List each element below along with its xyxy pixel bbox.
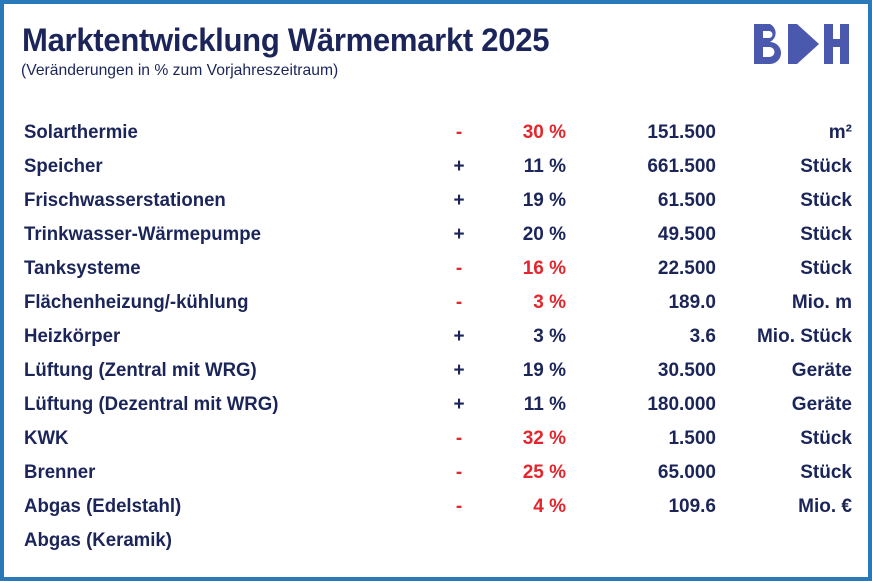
table-row: Frischwasserstationen + 19 % 61.500 Stüc… (4, 184, 868, 218)
row-label: Abgas (Edelstahl) (24, 490, 181, 524)
row-value: 151.500 (574, 116, 716, 150)
row-label: Tanksysteme (24, 252, 141, 286)
row-unit: Stück (716, 252, 852, 286)
row-unit: Stück (716, 422, 852, 456)
row-sign: - (444, 456, 474, 490)
row-unit: Mio. € (716, 490, 852, 524)
row-unit: Stück (716, 150, 852, 184)
row-unit: Stück (716, 456, 852, 490)
row-sign: - (444, 252, 474, 286)
row-label: Frischwasserstationen (24, 184, 226, 218)
row-sign: + (444, 184, 474, 218)
row-label: KWK (24, 422, 68, 456)
page-subtitle: (Veränderungen in % zum Vorjahreszeitrau… (21, 62, 338, 80)
row-label: Brenner (24, 456, 95, 490)
row-value: 22.500 (574, 252, 716, 286)
row-sign: + (444, 320, 474, 354)
row-unit: Stück (716, 184, 852, 218)
row-percent: 3 % (474, 286, 566, 320)
logo-letter-d-stem (788, 24, 797, 64)
row-value: 3.6 (574, 320, 716, 354)
row-percent: 16 % (474, 252, 566, 286)
row-percent: 11 % (474, 150, 566, 184)
row-value: 661.500 (574, 150, 716, 184)
table-row: Flächenheizung/-kühlung - 3 % 189.0 Mio.… (4, 286, 868, 320)
table-row: Lüftung (Zentral mit WRG) + 19 % 30.500 … (4, 354, 868, 388)
row-unit: Mio. Stück (716, 320, 852, 354)
row-sign: - (444, 422, 474, 456)
row-percent: 20 % (474, 218, 566, 252)
row-label: Solarthermie (24, 116, 138, 150)
table-row: Heizkörper + 3 % 3.6 Mio. Stück (4, 320, 868, 354)
row-sign: - (444, 286, 474, 320)
row-percent: 19 % (474, 354, 566, 388)
row-sign: + (444, 354, 474, 388)
row-label: Heizkörper (24, 320, 120, 354)
table-row: Lüftung (Dezentral mit WRG) + 11 % 180.0… (4, 388, 868, 422)
row-value: 1.500 (574, 422, 716, 456)
logo-letter-d-wedge (797, 24, 819, 64)
market-data-table: Solarthermie - 30 % 151.500 m² Speicher … (4, 116, 868, 558)
row-value: 65.000 (574, 456, 716, 490)
row-label: Abgas (Keramik) (24, 524, 172, 558)
row-sign: + (444, 218, 474, 252)
row-percent: 25 % (474, 456, 566, 490)
row-value: 189.0 (574, 286, 716, 320)
header: Marktentwicklung Wärmemarkt 2025 (Veränd… (4, 4, 868, 100)
row-value: 61.500 (574, 184, 716, 218)
logo-letter-h (824, 24, 849, 64)
row-value: 49.500 (574, 218, 716, 252)
row-percent: 30 % (474, 116, 566, 150)
infographic-card: Marktentwicklung Wärmemarkt 2025 (Veränd… (0, 0, 872, 581)
table-row: Abgas (Edelstahl) - 4 % 109.6 Mio. € (4, 490, 868, 524)
table-row: Solarthermie - 30 % 151.500 m² (4, 116, 868, 150)
row-unit: Geräte (716, 354, 852, 388)
row-value: 109.6 (574, 490, 716, 524)
table-row: KWK - 32 % 1.500 Stück (4, 422, 868, 456)
row-percent: 11 % (474, 388, 566, 422)
table-row: Brenner - 25 % 65.000 Stück (4, 456, 868, 490)
row-label: Flächenheizung/-kühlung (24, 286, 248, 320)
row-sign: - (444, 116, 474, 150)
row-sign: + (444, 388, 474, 422)
table-row: Trinkwasser-Wärmepumpe + 20 % 49.500 Stü… (4, 218, 868, 252)
row-unit: Geräte (716, 388, 852, 422)
row-value: 180.000 (574, 388, 716, 422)
row-unit: Mio. m (716, 286, 852, 320)
row-sign: - (444, 490, 474, 524)
table-row: Speicher + 11 % 661.500 Stück (4, 150, 868, 184)
row-percent: 32 % (474, 422, 566, 456)
row-label: Lüftung (Zentral mit WRG) (24, 354, 257, 388)
row-percent: 4 % (474, 490, 566, 524)
table-row: Abgas (Keramik) (4, 524, 868, 558)
row-label: Lüftung (Dezentral mit WRG) (24, 388, 278, 422)
row-label: Trinkwasser-Wärmepumpe (24, 218, 261, 252)
row-unit: Stück (716, 218, 852, 252)
row-percent: 19 % (474, 184, 566, 218)
bdh-logo (752, 22, 850, 66)
row-label: Speicher (24, 150, 103, 184)
table-row: Tanksysteme - 16 % 22.500 Stück (4, 252, 868, 286)
row-value: 30.500 (574, 354, 716, 388)
page-title: Marktentwicklung Wärmemarkt 2025 (22, 22, 549, 59)
row-sign: + (444, 150, 474, 184)
logo-letter-b (754, 24, 781, 64)
row-percent: 3 % (474, 320, 566, 354)
row-unit: m² (716, 116, 852, 150)
